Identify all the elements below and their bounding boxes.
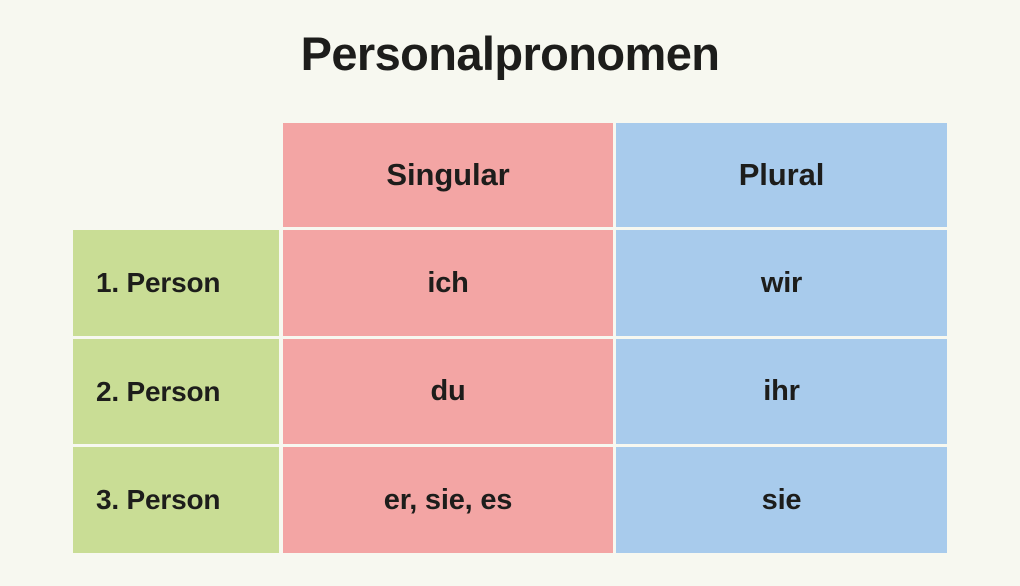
cell-plural-2-person: ihr: [616, 339, 947, 447]
row-header-3-person: 3. Person: [73, 447, 283, 553]
cell-plural-3-person: sie: [616, 447, 947, 553]
column-header-singular: Singular: [283, 123, 616, 230]
pronoun-table: Singular Plural 1. Person ich wir 2. Per…: [73, 123, 947, 553]
cell-singular-3-person: er, sie, es: [283, 447, 616, 553]
row-header-2-person: 2. Person: [73, 339, 283, 447]
cell-plural-1-person: wir: [616, 230, 947, 339]
column-header-plural: Plural: [616, 123, 947, 230]
cell-singular-1-person: ich: [283, 230, 616, 339]
personalpronomen-table-page: Personalpronomen Singular Plural 1. Pers…: [0, 0, 1020, 586]
table-corner-cell: [73, 123, 283, 230]
page-title: Personalpronomen: [0, 26, 1020, 82]
row-header-1-person: 1. Person: [73, 230, 283, 339]
cell-singular-2-person: du: [283, 339, 616, 447]
